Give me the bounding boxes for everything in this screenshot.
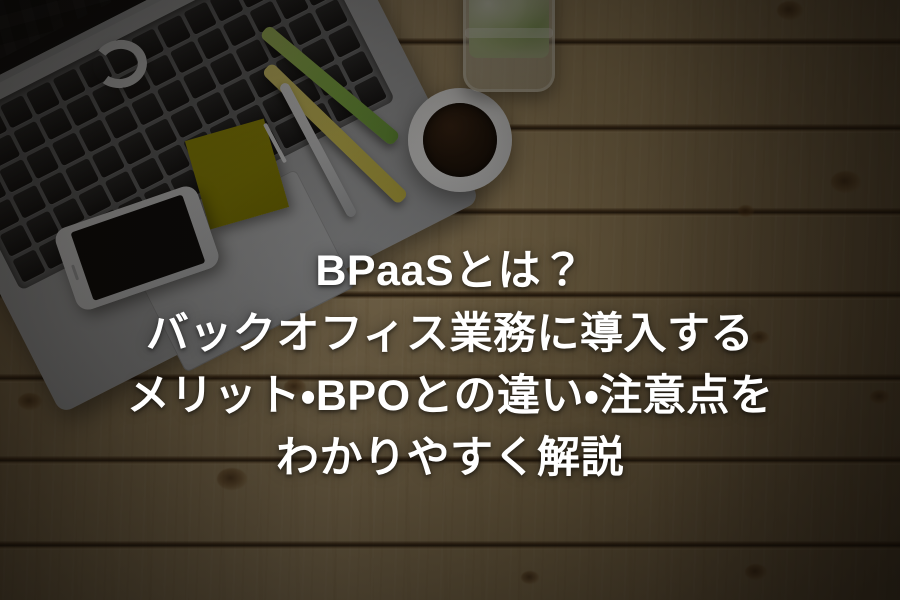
dark-overlay <box>0 0 900 600</box>
hero-banner: BPaaSとは？ バックオフィス業務に導入する メリット・BPOとの違い・注意点… <box>0 0 900 600</box>
